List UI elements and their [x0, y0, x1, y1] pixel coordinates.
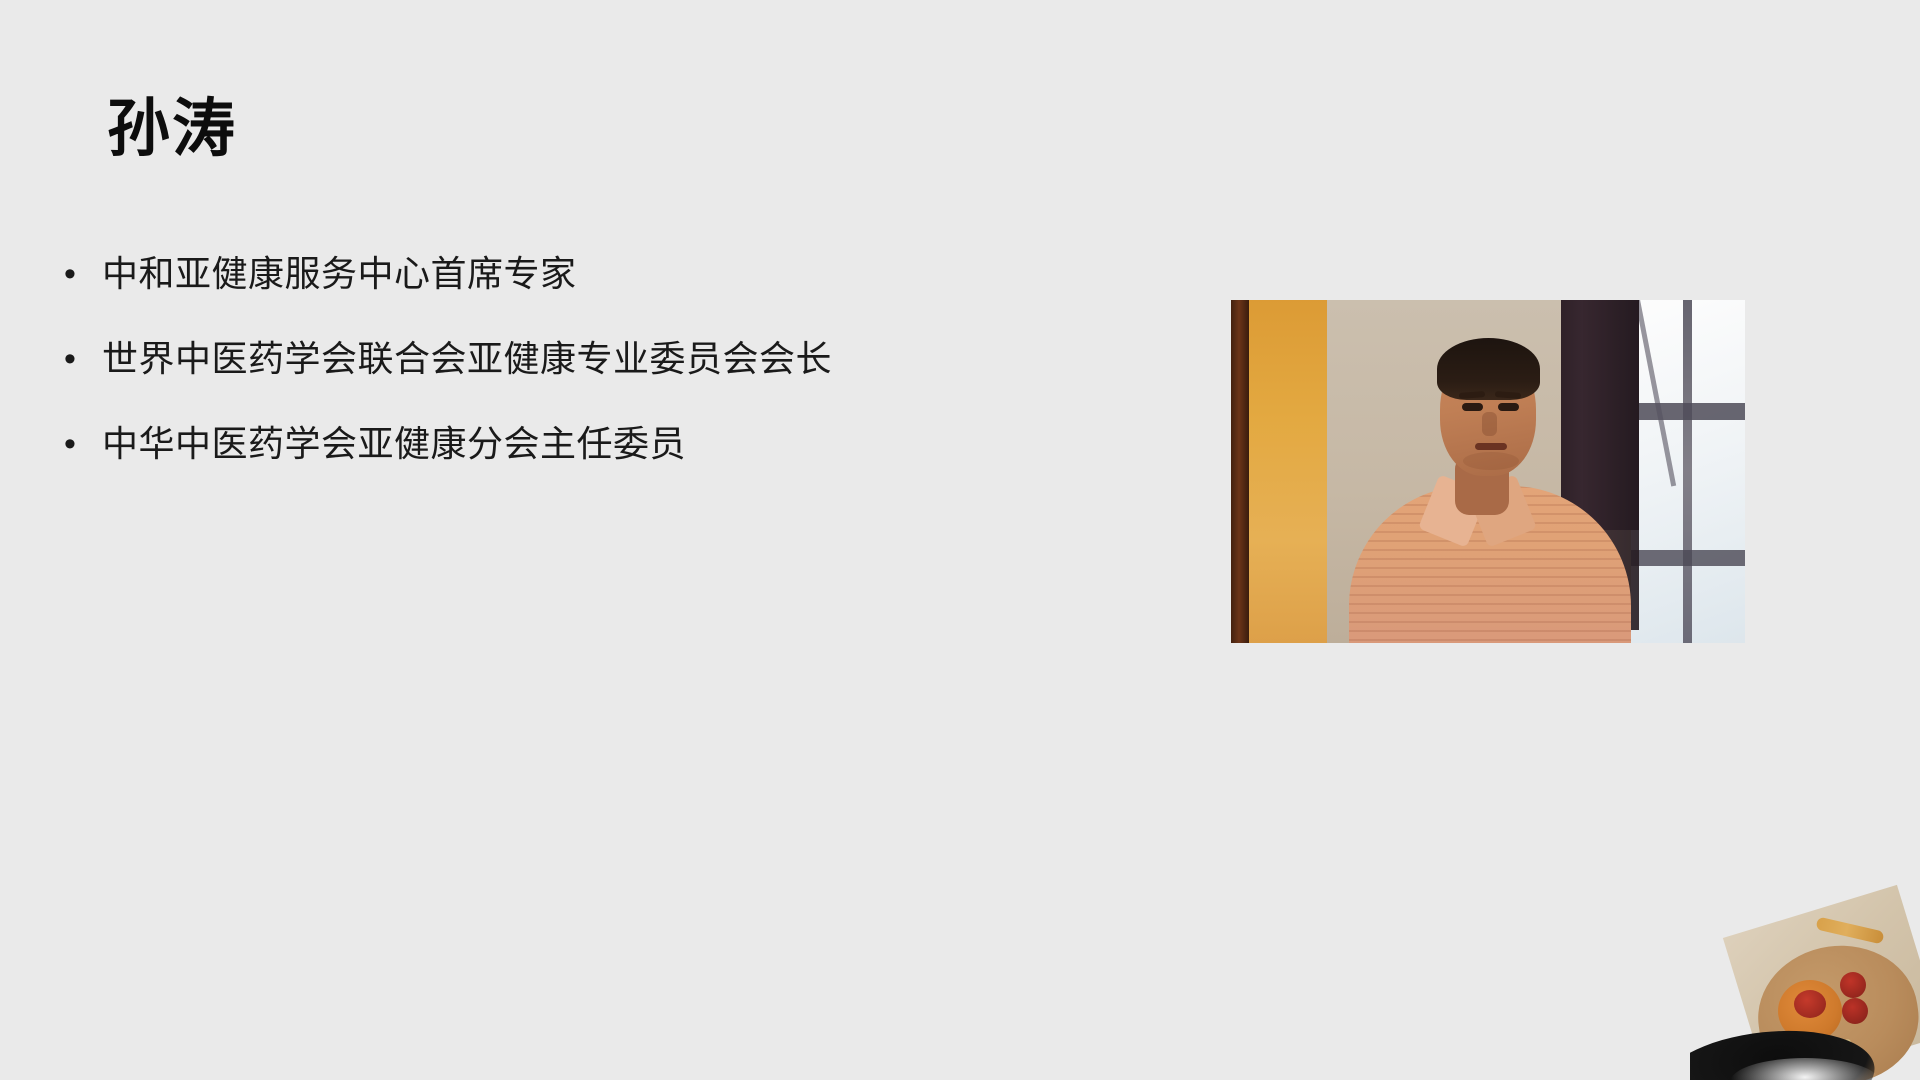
list-item: • 世界中医药学会联合会亚健康专业委员会会长: [58, 333, 1138, 418]
bullet-marker-icon: •: [58, 248, 102, 300]
herbal-ingredients-photo: [1690, 880, 1920, 1080]
slide-canvas: 孙涛 • 中和亚健康服务中心首席专家 • 世界中医药学会联合会亚健康专业委员会会…: [0, 0, 1920, 1080]
list-item: • 中和亚健康服务中心首席专家: [58, 248, 1138, 333]
photo-window-mullion-horizontal: [1631, 550, 1745, 566]
photo-gold-panel: [1249, 300, 1327, 643]
photo-window-mullion-horizontal: [1631, 403, 1745, 420]
deco-red-date: [1840, 972, 1866, 998]
portrait-photo: [1231, 300, 1745, 643]
bullet-marker-icon: •: [58, 333, 102, 385]
bullet-text: 世界中医药学会联合会亚健康专业委员会会长: [102, 333, 1138, 385]
bullet-list: • 中和亚健康服务中心首席专家 • 世界中医药学会联合会亚健康专业委员会会长 •…: [58, 248, 1138, 503]
photo-person-eye: [1498, 403, 1519, 411]
photo-person-hair: [1437, 338, 1540, 400]
photo-person-chin: [1463, 452, 1519, 470]
bullet-text: 中华中医药学会亚健康分会主任委员: [102, 418, 1138, 470]
bullet-marker-icon: •: [58, 418, 102, 470]
photo-person-eye: [1462, 403, 1483, 411]
deco-red-date: [1794, 990, 1826, 1018]
bullet-text: 中和亚健康服务中心首席专家: [102, 248, 1138, 300]
list-item: • 中华中医药学会亚健康分会主任委员: [58, 418, 1138, 503]
photo-person-nose: [1482, 412, 1497, 436]
deco-red-date: [1842, 998, 1868, 1024]
photo-wood-trim: [1231, 300, 1249, 643]
page-title: 孙涛: [107, 96, 237, 162]
photo-window-mullion-vertical: [1683, 300, 1692, 643]
photo-person-mouth: [1475, 443, 1507, 450]
